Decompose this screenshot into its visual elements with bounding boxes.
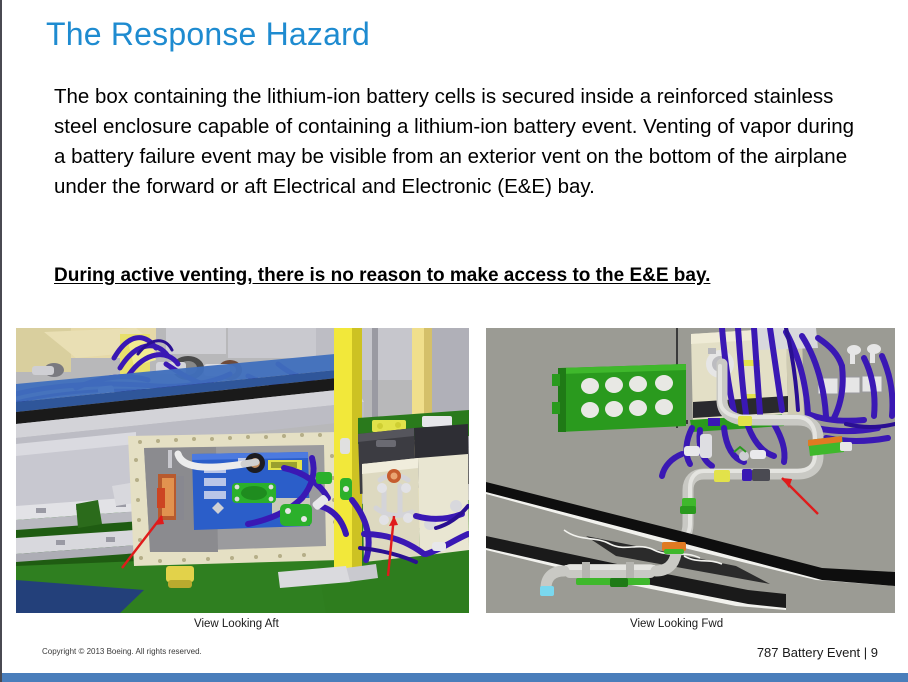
emphasis-statement: During active venting, there is no reaso… [54,262,844,289]
slide-title: The Response Hazard [46,16,370,53]
presentation-slide: The Response Hazard The box containing t… [0,0,908,682]
green-vent-panel [552,364,686,432]
figure-right-artwork [486,328,895,613]
figure-left-caption: View Looking Aft [194,618,279,630]
emphasis-statement-text: During active venting, there is no reaso… [54,265,710,286]
body-paragraph: The box containing the lithium-ion batte… [54,82,854,202]
footer-copyright: Copyright © 2013 Boeing. All rights rese… [42,647,202,656]
figure-left-artwork [16,328,469,613]
figure-left-apu-battery-installation: Minus Box Cover and Kick Plate APU Batte… [16,328,469,613]
figure-right-caption: View Looking Fwd [630,618,723,630]
bottom-accent-bar [2,673,908,682]
figure-right-vent-tube-routing: Vent Tube [486,328,895,613]
footer-page-label: 787 Battery Event | 9 [757,645,878,660]
